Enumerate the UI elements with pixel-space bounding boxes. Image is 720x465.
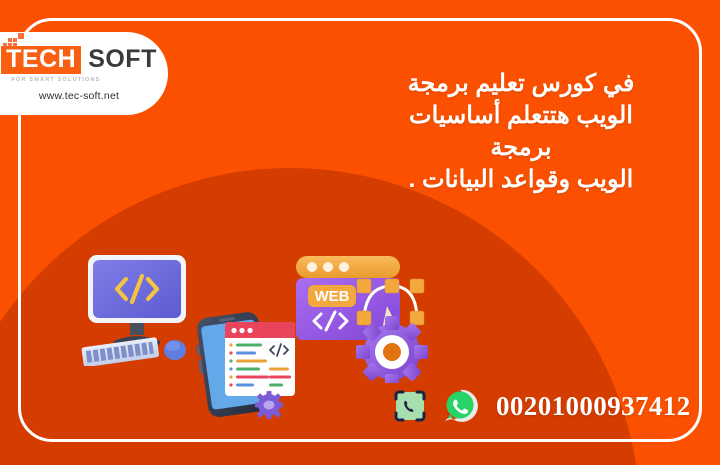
desktop-monitor-illustration (72, 246, 202, 371)
logo-soft-text: SOFT (88, 47, 157, 72)
contact-row: 00201000937412 (392, 388, 691, 424)
headline-text: في كورس تعليم برمجة الويب هتتعلم أساسيات… (356, 68, 686, 196)
gear-icon (255, 391, 283, 419)
whatsapp-icon[interactable] (442, 388, 478, 424)
web-browser-gear-illustration: WEB (288, 248, 438, 388)
logo-wordmark: TECH SOFT (1, 46, 157, 74)
headline-line-1: في كورس تعليم برمجة (356, 68, 686, 100)
logo-badge: TECH SOFT FOR SMART SOLUTIONS www.tec-so… (0, 32, 168, 115)
headline-line-4: الويب وقواعد البيانات . (356, 164, 686, 196)
pixel-squares-icon (3, 37, 29, 49)
logo-tech-text: TECH (1, 46, 81, 74)
phone-number-text[interactable]: 00201000937412 (496, 391, 691, 422)
headline-line-3: برمجة (356, 132, 686, 164)
web-badge-label: WEB (315, 288, 350, 305)
logo-tagline: FOR SMART SOLUTIONS (11, 77, 100, 83)
phone-icon[interactable] (392, 388, 428, 424)
headline-line-2: الويب هتتعلم أساسيات (356, 100, 686, 132)
promo-banner: WEB (0, 0, 720, 465)
logo-website-url[interactable]: www.tec-soft.net (39, 90, 119, 102)
